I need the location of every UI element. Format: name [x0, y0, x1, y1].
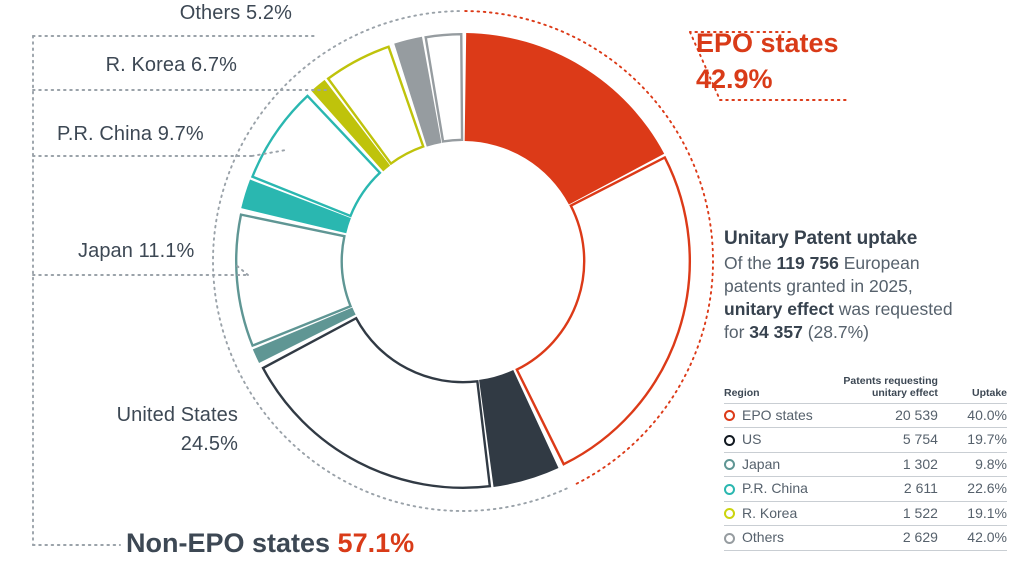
table-cell-patents: 2 611	[838, 477, 950, 502]
info-text-share: (28.7%)	[803, 322, 869, 342]
uptake-info-block: Unitary Patent uptake Of the 119 756 Eur…	[724, 226, 1004, 344]
uptake-table: Region Patents requesting unitary effect…	[724, 375, 1007, 551]
donut-segment	[517, 157, 690, 464]
table-region-label: EPO states	[742, 407, 813, 425]
table-cell-region: Others	[724, 526, 838, 551]
table-cell-uptake: 40.0%	[950, 403, 1007, 428]
table-cell-patents: 1 302	[838, 452, 950, 477]
info-total-patents: 119 756	[777, 253, 839, 273]
epo-states-label: EPO states 42.9%	[696, 26, 839, 97]
non-epo-states-label: Non-EPO states 57.1%	[126, 528, 414, 559]
column-header-uptake: Uptake	[950, 375, 1007, 403]
info-text-unitary-effect: unitary effect	[724, 299, 834, 319]
info-text-european: European	[839, 253, 920, 273]
info-text-was-requested: was requested	[834, 299, 953, 319]
info-unitary-requested: 34 357	[749, 322, 803, 342]
table-cell-patents: 20 539	[838, 403, 950, 428]
uptake-info-heading: Unitary Patent uptake	[724, 226, 1004, 251]
table-cell-region: US	[724, 428, 838, 453]
table-cell-region: EPO states	[724, 403, 838, 428]
callout-others: Others 5.2%	[0, 2, 292, 25]
uptake-info-body: Of the 119 756 Europeanpatents granted i…	[724, 252, 1004, 344]
table-row: P.R. China2 61122.6%	[724, 477, 1007, 502]
table-row: Japan1 3029.8%	[724, 452, 1007, 477]
table-region-label: Japan	[742, 456, 780, 474]
column-header-region: Region	[724, 375, 838, 403]
callout-r-korea: R. Korea 6.7%	[0, 54, 237, 77]
table-region-label: US	[742, 431, 761, 449]
legend-dot-icon	[724, 459, 735, 470]
column-header-patents-line1: Patents requesting	[843, 375, 938, 387]
table-cell-patents: 5 754	[838, 428, 950, 453]
table-cell-patents: 2 629	[838, 526, 950, 551]
infographic-canvas: Others 5.2% R. Korea 6.7% P.R. China 9.7…	[0, 0, 1024, 576]
legend-dot-icon	[724, 533, 735, 544]
table-cell-patents: 1 522	[838, 501, 950, 526]
epo-states-label-line2: 42.9%	[696, 62, 839, 98]
info-text-for: for	[724, 322, 749, 342]
table-header-row: Region Patents requesting unitary effect…	[724, 375, 1007, 403]
column-header-patents-line2: unitary effect	[872, 387, 938, 399]
table-region-label: P.R. China	[742, 480, 808, 498]
table-cell-region: P.R. China	[724, 477, 838, 502]
table-region-label: R. Korea	[742, 505, 797, 523]
table-cell-region: Japan	[724, 452, 838, 477]
table-row: R. Korea1 52219.1%	[724, 501, 1007, 526]
callout-japan: Japan 11.1%	[78, 240, 194, 263]
table-cell-uptake: 42.0%	[950, 526, 1007, 551]
column-header-patents: Patents requesting unitary effect	[838, 375, 950, 403]
epo-states-label-line1: EPO states	[696, 26, 839, 62]
non-epo-states-text: Non-EPO states	[126, 528, 338, 558]
callout-pr-china: P.R. China 9.7%	[57, 123, 204, 146]
table-cell-uptake: 22.6%	[950, 477, 1007, 502]
table-cell-region: R. Korea	[724, 501, 838, 526]
non-epo-states-percent: 57.1%	[338, 528, 415, 558]
legend-dot-icon	[724, 484, 735, 495]
table-row: US5 75419.7%	[724, 428, 1007, 453]
info-text-granted: patents granted in 2025,	[724, 276, 913, 296]
legend-dot-icon	[724, 435, 735, 446]
callout-united-states-line1: United States	[0, 404, 238, 427]
table-row: Others2 62942.0%	[724, 526, 1007, 551]
table-body: EPO states20 53940.0%US5 75419.7%Japan1 …	[724, 403, 1007, 550]
info-text-of-the: Of the	[724, 253, 777, 273]
donut-segment	[236, 215, 350, 346]
table-cell-uptake: 19.7%	[950, 428, 1007, 453]
table-region-label: Others	[742, 529, 784, 547]
legend-dot-icon	[724, 410, 735, 421]
table-row: EPO states20 53940.0%	[724, 403, 1007, 428]
table-cell-uptake: 19.1%	[950, 501, 1007, 526]
callout-united-states-line2: 24.5%	[0, 433, 238, 456]
legend-dot-icon	[724, 508, 735, 519]
table-cell-uptake: 9.8%	[950, 452, 1007, 477]
